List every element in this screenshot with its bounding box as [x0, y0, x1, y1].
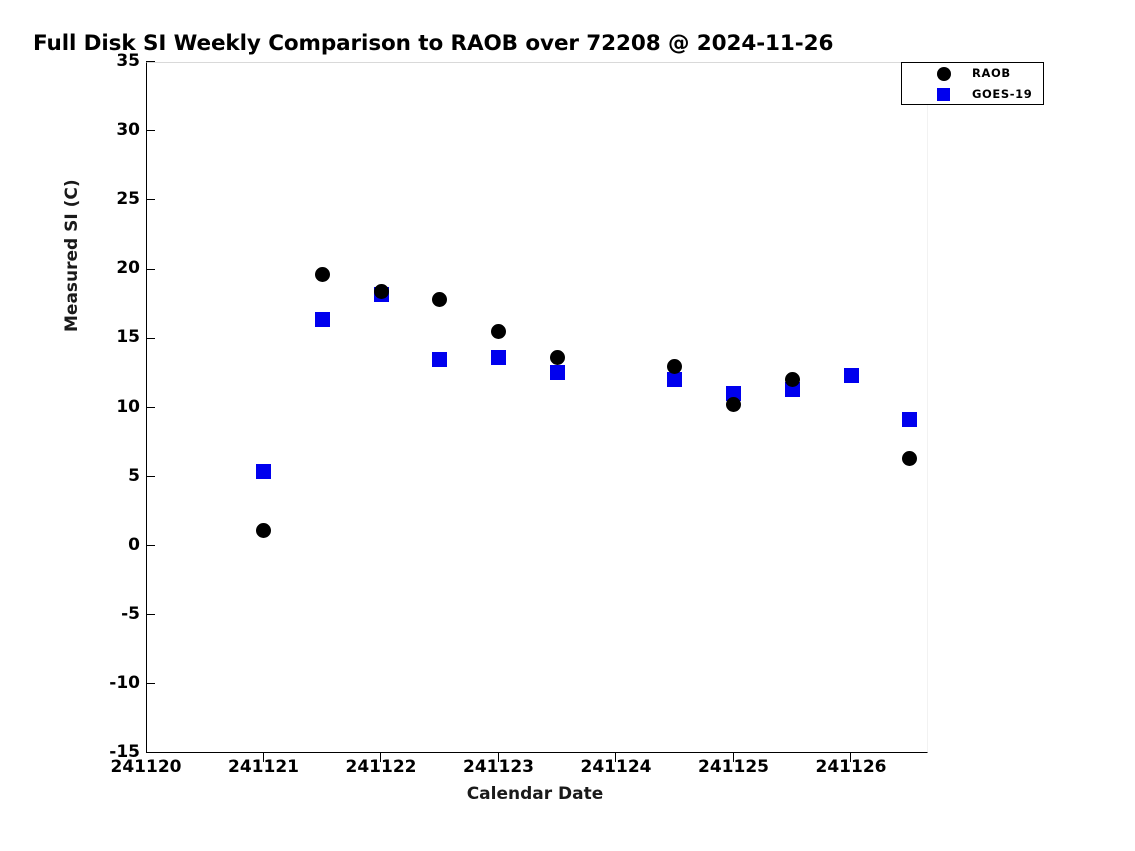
x-tick-label: 241124: [556, 757, 676, 777]
y-tick-label: 25: [40, 189, 140, 209]
x-tick-label: 241126: [791, 757, 911, 777]
y-tick-label: -5: [40, 604, 140, 624]
data-point-raob: [315, 267, 330, 282]
data-point-goes-19: [902, 412, 917, 427]
data-point-goes-19: [315, 312, 330, 327]
chart-page: Full Disk SI Weekly Comparison to RAOB o…: [0, 0, 1135, 851]
x-axis-label: Calendar Date: [0, 784, 1070, 804]
data-point-goes-19: [785, 382, 800, 397]
filled-square-marker-glyph: [937, 88, 950, 101]
filled-square-marker: [932, 84, 956, 105]
data-point-raob: [432, 292, 447, 307]
data-point-raob: [785, 372, 800, 387]
legend-item-label: GOES-19: [972, 87, 1032, 101]
x-tick-label: 241125: [674, 757, 794, 777]
data-point-raob: [726, 397, 741, 412]
y-tick-label: 35: [40, 51, 140, 71]
y-tick-label: 10: [40, 397, 140, 417]
legend-item-raob[interactable]: RAOB: [902, 63, 1045, 84]
data-point-goes-19: [667, 372, 682, 387]
y-tick-label: 15: [40, 327, 140, 347]
data-point-raob: [491, 324, 506, 339]
data-point-goes-19: [550, 365, 565, 380]
data-point-goes-19: [844, 368, 859, 383]
x-tick-label: 241123: [439, 757, 559, 777]
y-tick-label: 5: [40, 466, 140, 486]
plot-area: [146, 62, 928, 753]
legend-item-goes-19[interactable]: GOES-19: [902, 84, 1045, 105]
legend[interactable]: RAOBGOES-19: [901, 62, 1044, 105]
data-point-goes-19: [432, 352, 447, 367]
data-point-raob: [550, 350, 565, 365]
y-tick-label: -10: [40, 673, 140, 693]
data-point-goes-19: [374, 287, 389, 302]
data-point-goes-19: [726, 386, 741, 401]
x-tick-label: 241120: [86, 757, 206, 777]
y-tick-label: 0: [40, 535, 140, 555]
data-point-raob: [902, 451, 917, 466]
y-tick-label: 20: [40, 258, 140, 278]
data-point-goes-19: [491, 350, 506, 365]
data-point-raob: [374, 284, 389, 299]
data-point-raob: [667, 359, 682, 374]
y-tick-label: 30: [40, 120, 140, 140]
filled-circle-marker: [932, 63, 956, 84]
data-point-goes-19: [256, 464, 271, 479]
data-point-raob: [256, 523, 271, 538]
legend-item-label: RAOB: [972, 66, 1011, 80]
y-axis-label: Measured SI (C): [62, 112, 82, 332]
page-title: Full Disk SI Weekly Comparison to RAOB o…: [33, 31, 833, 56]
x-tick-label: 241121: [204, 757, 324, 777]
x-tick-label: 241122: [321, 757, 441, 777]
filled-circle-marker-glyph: [937, 67, 951, 81]
